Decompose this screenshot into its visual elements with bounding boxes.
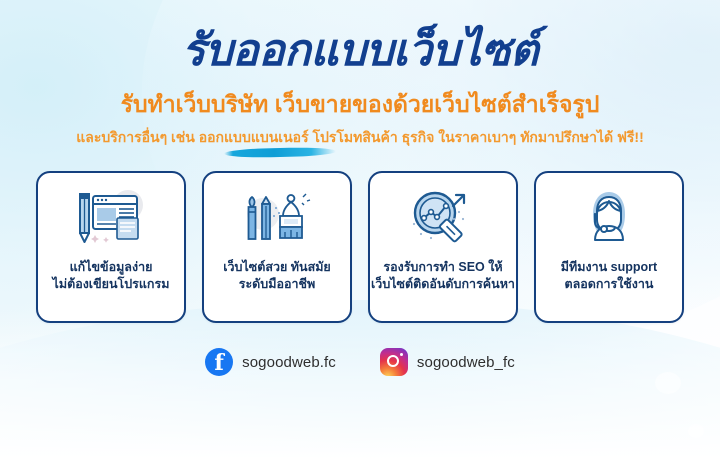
instagram-link[interactable]: sogoodweb_fc bbox=[380, 348, 515, 376]
facebook-link[interactable]: f sogoodweb.fc bbox=[205, 348, 336, 376]
feature-card[interactable]: รองรับการทำ SEO ให้ เว็บไซต์ติดอันดับการ… bbox=[368, 171, 518, 323]
feature-card[interactable]: แก้ไขข้อมูลง่าย ไม่ต้องเขียนโปรแกรม bbox=[36, 171, 186, 323]
page-subtitle: รับทำเว็บบริษัท เว็บขายของด้วยเว็บไซต์สำ… bbox=[0, 90, 720, 118]
feature-card[interactable]: เว็บไซต์สวย ทันสมัย ระดับมืออาชีพ bbox=[202, 171, 352, 323]
feature-card-line2: เว็บไซต์ติดอันดับการค้นหา bbox=[371, 276, 515, 293]
feature-card-line1: แก้ไขข้อมูลง่าย bbox=[70, 260, 153, 274]
instagram-handle: sogoodweb_fc bbox=[417, 354, 515, 371]
background-bokeh-dot bbox=[688, 424, 704, 438]
feature-card-text: แก้ไขข้อมูลง่าย ไม่ต้องเขียนโปรแกรม bbox=[53, 259, 170, 293]
feature-card[interactable]: มีทีมงาน support ตลอดการใช้งาน bbox=[534, 171, 684, 323]
feature-card-text: เว็บไซต์สวย ทันสมัย ระดับมืออาชีพ bbox=[223, 259, 331, 293]
instagram-icon[interactable] bbox=[380, 348, 408, 376]
page-tagline: และบริการอื่นๆ เช่น ออกแบบแบนเนอร์ โปรโม… bbox=[0, 128, 720, 147]
feature-card-line2: ตลอดการใช้งาน bbox=[561, 276, 657, 293]
feature-card-line1: รองรับการทำ SEO ให้ bbox=[383, 260, 502, 274]
feature-card-list: แก้ไขข้อมูลง่าย ไม่ต้องเขียนโปรแกรม bbox=[36, 171, 684, 323]
facebook-icon[interactable]: f bbox=[205, 348, 233, 376]
promo-banner: รับออกแบบเว็บไซต์ รับทำเว็บบริษัท เว็บขา… bbox=[0, 0, 720, 459]
feature-card-text: รองรับการทำ SEO ให้ เว็บไซต์ติดอันดับการ… bbox=[371, 259, 515, 293]
feature-card-line1: มีทีมงาน support bbox=[561, 260, 657, 274]
social-links: f sogoodweb.fc sogoodweb_fc bbox=[0, 348, 720, 376]
feature-card-line2: ไม่ต้องเขียนโปรแกรม bbox=[53, 276, 170, 293]
facebook-handle: sogoodweb.fc bbox=[242, 354, 336, 371]
feature-card-text: มีทีมงาน support ตลอดการใช้งาน bbox=[561, 259, 657, 293]
page-title: รับออกแบบเว็บไซต์ bbox=[0, 26, 720, 76]
paintbrush-pencil-icon bbox=[239, 173, 315, 259]
support-agent-icon bbox=[571, 173, 647, 259]
pencil-browser-icon bbox=[73, 173, 149, 259]
background-bottom-fade bbox=[0, 309, 720, 459]
magnifier-chart-icon bbox=[405, 173, 481, 259]
feature-card-line1: เว็บไซต์สวย ทันสมัย bbox=[223, 260, 331, 274]
feature-card-line2: ระดับมืออาชีพ bbox=[223, 276, 331, 293]
